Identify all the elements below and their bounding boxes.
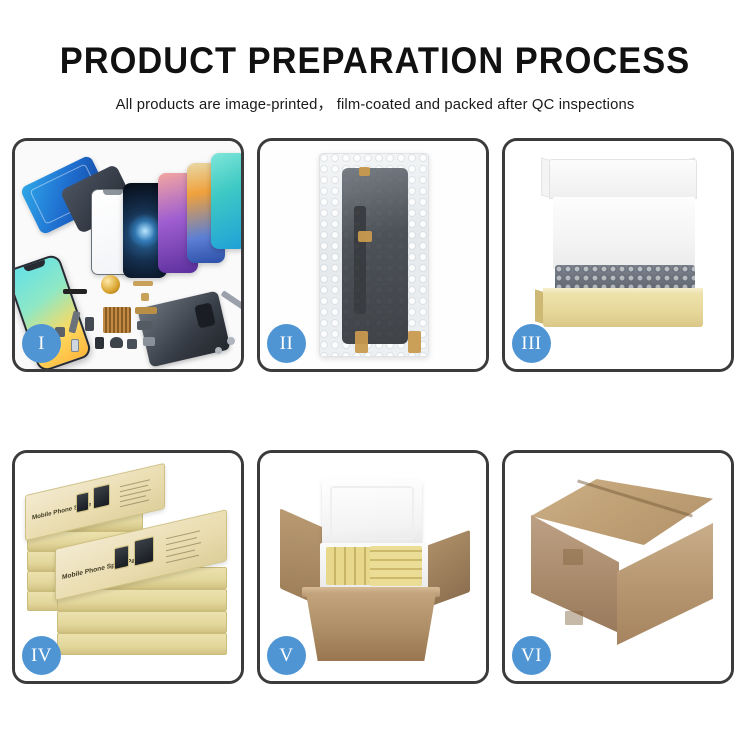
spare-part: [137, 321, 153, 330]
screw-part: [215, 347, 222, 354]
page-header: PRODUCT PREPARATION PROCESS All products…: [0, 0, 750, 114]
bubble-wrap-bag: [319, 153, 429, 357]
spare-part: [63, 289, 87, 294]
step-panel-5: V: [257, 450, 489, 684]
spare-part: [110, 337, 123, 348]
page-title: PRODUCT PREPARATION PROCESS: [26, 42, 724, 79]
tape-strip: [359, 167, 370, 176]
step-panel-1: I: [12, 138, 244, 372]
screw-part: [227, 337, 235, 345]
box-phone-graphic: [93, 484, 110, 510]
stacked-box: [57, 633, 227, 655]
packed-yellow-boxes: [370, 546, 422, 586]
speaker-mesh-part: [101, 275, 120, 294]
wrapped-screen-assembly: [342, 168, 408, 344]
white-foam-sheet: [553, 197, 695, 269]
spare-part: [143, 337, 155, 346]
process-step-grid: I II: [12, 138, 738, 684]
box-lid-back-flap: [549, 159, 697, 199]
spare-part: [127, 339, 137, 349]
spare-part: [95, 337, 104, 349]
step-badge-6: VI: [512, 636, 551, 675]
tape-strip: [355, 331, 368, 353]
spare-part: [133, 281, 153, 286]
carton-handle-tab: [565, 611, 583, 625]
step-panel-3: III: [502, 138, 734, 372]
step-panel-6: VI: [502, 450, 734, 684]
box-phone-graphic: [134, 536, 154, 567]
spare-part: [85, 317, 94, 331]
step-badge-5: V: [267, 636, 306, 675]
tape-strip: [408, 331, 421, 353]
foam-box-lid: [322, 479, 422, 547]
tweezers-tool: [221, 290, 241, 310]
product-preparation-process-page: PRODUCT PREPARATION PROCESS All products…: [0, 0, 750, 750]
step-panel-4: Mobile Phone Spare Parts Mobile Phone Sp…: [12, 450, 244, 684]
kraft-box-front: [543, 293, 703, 327]
step-badge-1: I: [22, 324, 61, 363]
spare-part: [135, 307, 157, 314]
spare-part: [141, 293, 149, 301]
step-panel-2: II: [257, 138, 489, 372]
step-badge-4: IV: [22, 636, 61, 675]
step-badge-2: II: [267, 324, 306, 363]
spare-part: [71, 339, 79, 352]
box-label-text: Mobile Phone Spare Parts: [62, 555, 143, 581]
carton-front-face: [306, 593, 436, 661]
camera-module-icon: [194, 302, 216, 328]
stacked-box: [57, 611, 227, 633]
phone-display-teal: [211, 153, 241, 249]
logic-board-part: [103, 307, 131, 333]
step-badge-3: III: [512, 324, 551, 363]
carton-handle-tab: [563, 549, 583, 565]
box-phone-graphic: [114, 545, 129, 570]
retail-box-stack: Mobile Phone Spare Parts Mobile Phone Sp…: [23, 467, 235, 665]
box-phone-graphic: [76, 491, 89, 513]
page-subtitle: All products are image-printed， film-coa…: [9, 92, 740, 114]
tape-strip: [358, 231, 372, 242]
